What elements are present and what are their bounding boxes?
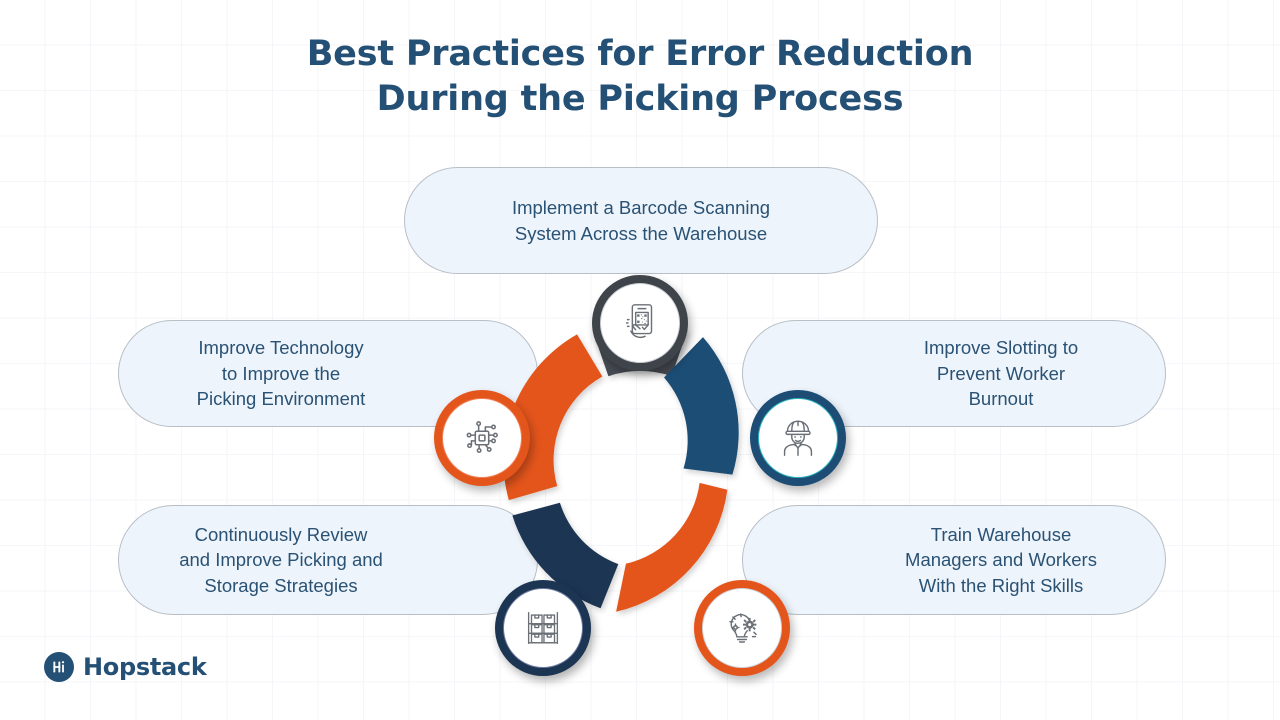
hopstack-logo[interactable]: Hopstack	[44, 652, 207, 682]
label-line: Improve Technology	[198, 337, 363, 358]
badge-inner-circle	[503, 588, 583, 668]
badge-inner-circle	[758, 398, 838, 478]
label-line: Improve Slotting to	[924, 337, 1078, 358]
label-text-train-workers: Train Warehouse Managers and Workers Wit…	[863, 522, 1139, 599]
label-line: Storage Strategies	[204, 575, 357, 596]
label-line: to Improve the	[222, 363, 340, 384]
label-line: With the Right Skills	[919, 575, 1084, 596]
warehouse-shelving-icon	[520, 605, 566, 651]
microchip-circuit-icon	[459, 415, 505, 461]
badge-warehouse-shelving[interactable]	[495, 580, 591, 676]
label-pill-barcode-scanning: Implement a Barcode Scanning System Acro…	[404, 167, 878, 274]
badge-inner-circle	[600, 283, 680, 363]
label-line: Continuously Review	[195, 524, 368, 545]
hopstack-logo-mark-icon	[44, 652, 74, 682]
label-line: System Across the Warehouse	[515, 223, 767, 244]
label-text-improve-slotting: Improve Slotting to Prevent Worker Burno…	[863, 335, 1139, 412]
label-line: Prevent Worker	[937, 363, 1065, 384]
badge-worker[interactable]	[750, 390, 846, 486]
hopstack-wordmark: Hopstack	[83, 653, 207, 681]
label-text-continuous-review: Continuously Review and Improve Picking …	[145, 522, 417, 599]
hardhat-worker-icon	[775, 415, 821, 461]
label-line: Managers and Workers	[905, 549, 1097, 570]
badge-skills-training[interactable]	[694, 580, 790, 676]
label-line: Train Warehouse	[931, 524, 1072, 545]
badge-barcode-scan[interactable]	[592, 275, 688, 371]
badge-inner-circle	[702, 588, 782, 668]
infographic-canvas: Best Practices for Error Reduction Durin…	[0, 0, 1280, 720]
label-line: Burnout	[969, 388, 1034, 409]
page-title-line-2: During the Picking Process	[0, 77, 1280, 122]
label-text-barcode-scanning: Implement a Barcode Scanning System Acro…	[431, 195, 851, 246]
label-text-improve-technology: Improve Technology to Improve the Pickin…	[145, 335, 417, 412]
page-title: Best Practices for Error Reduction Durin…	[0, 32, 1280, 122]
badge-inner-circle	[442, 398, 522, 478]
page-title-line-1: Best Practices for Error Reduction	[0, 32, 1280, 77]
lightbulb-gears-icon	[719, 605, 765, 651]
label-line: Picking Environment	[197, 388, 366, 409]
badge-technology[interactable]	[434, 390, 530, 486]
label-line: Implement a Barcode Scanning	[512, 197, 770, 218]
barcode-scan-phone-icon	[617, 300, 663, 346]
label-line: and Improve Picking and	[179, 549, 383, 570]
